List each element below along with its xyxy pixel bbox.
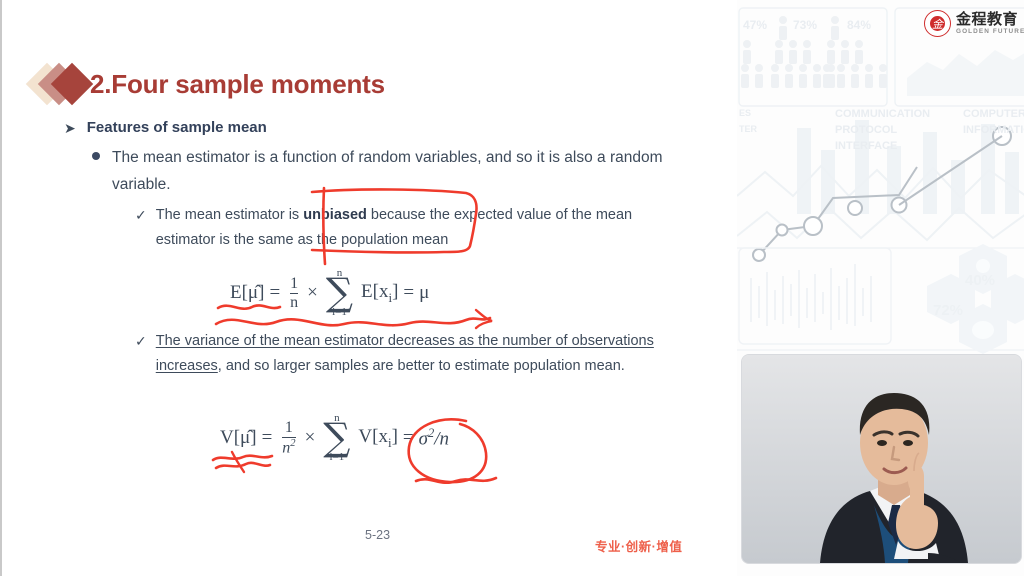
check-bullet-icon: ✓ — [135, 203, 147, 228]
dot-bullet-icon — [92, 152, 100, 160]
decor-label-es: ES — [739, 108, 751, 118]
formula-var-lhs: V[μ̂] — [220, 427, 257, 449]
formula-var-term: V[xi] — [358, 426, 397, 451]
instructor-figure — [742, 355, 1021, 563]
formula-mean-rhs: μ — [419, 282, 429, 304]
formula-mean-lhs: E[μ̂] — [230, 282, 264, 304]
decor-hex-72: 72% — [933, 302, 963, 319]
decor-stat-73: 73% — [793, 18, 817, 32]
variance-text-rest: , and so larger samples are better to es… — [218, 358, 625, 374]
decorative-side-panel: 47% 73% 84% ES TER COMMUNICATION PROTOCO… — [737, 0, 1024, 576]
formula-var-term-open: V[x — [358, 426, 388, 447]
brand-seal-icon: 金 — [924, 10, 951, 37]
formula-var-term-close: ] — [392, 426, 398, 447]
formula-var-summation: n ∑ i=1 — [323, 413, 350, 463]
formula-mean-term: E[xi] — [361, 281, 398, 306]
decor-stat-84: 84% — [847, 18, 871, 32]
brand-names: 金程教育 GOLDEN FUTURE — [956, 12, 1024, 35]
formula-expected-value-of-mean-estimator: E[μ̂] = 1 n × n ∑ i=1 E[xi] = μ — [230, 268, 429, 318]
page-number: 5-23 — [365, 528, 390, 542]
decor-label-ter: TER — [739, 124, 757, 134]
emphasis-unbiased: unbiased — [303, 207, 367, 223]
bullet-level2-label: The mean estimator is a function of rand… — [112, 144, 692, 198]
formula-mean-times: × — [307, 282, 318, 304]
text-fragment-pre: The mean estimator is — [156, 207, 303, 223]
decor-label-protocol: PROTOCOL — [835, 124, 897, 136]
page-title: 2.Four sample moments — [90, 69, 385, 100]
slide-canvas: 2.Four sample moments ➤ Features of samp… — [0, 0, 1024, 576]
formula-var-den-exp: 2 — [290, 438, 295, 449]
brand-name-en: GOLDEN FUTURE — [956, 28, 1024, 35]
formula-mean-term-close: ] — [392, 281, 398, 302]
bullet-level3-unbiased-text: The mean estimator is unbiased because t… — [156, 203, 695, 253]
summation-sigma-icon: ∑ — [326, 277, 353, 308]
brand-name-cn: 金程教育 — [956, 12, 1024, 28]
arrow-bullet-icon: ➤ — [64, 118, 76, 138]
decor-label-information: INFORMATION — [963, 124, 1024, 136]
formula-var-fraction: 1 n2 — [282, 420, 295, 456]
bullet-level2: The mean estimator is a function of rand… — [92, 144, 692, 198]
formula-mean-numerator: 1 — [290, 276, 298, 293]
brand-seal-glyph: 金 — [930, 16, 945, 31]
summation-sigma-icon: ∑ — [323, 422, 350, 453]
decor-label-communication: COMMUNICATION — [835, 108, 930, 120]
formula-mean-denominator: n — [290, 293, 298, 311]
formula-mean-equals: = — [269, 282, 280, 304]
bullet-level3-unbiased: ✓ The mean estimator is unbiased because… — [135, 203, 695, 253]
formula-var-rhs: σ2/n — [419, 426, 449, 450]
brand-logo: 金 金程教育 GOLDEN FUTURE — [924, 10, 1024, 37]
decor-stat-47: 47% — [743, 18, 767, 32]
formula-var-times: × — [305, 427, 316, 449]
formula-var-sigma: σ — [419, 428, 428, 449]
formula-var-denominator: n2 — [282, 437, 295, 456]
brand-slogan: 专业·创新·增值 — [595, 536, 682, 555]
formula-mean-equals2: = — [403, 282, 414, 304]
formula-var-numerator: 1 — [285, 420, 293, 437]
formula-var-over-n: /n — [434, 428, 449, 449]
bullet-level1-label: Features of sample mean — [87, 118, 267, 138]
formula-var-equals2: = — [403, 427, 414, 449]
slide-title-row: 2.Four sample moments — [32, 60, 385, 108]
bullet-level1: ➤ Features of sample mean — [64, 118, 267, 138]
decor-label-computer: COMPUTER — [963, 108, 1024, 120]
formula-mean-term-open: E[x — [361, 281, 388, 302]
bullet-level3-variance-text: The variance of the mean estimator decre… — [156, 329, 695, 379]
bullet-level3-variance: ✓ The variance of the mean estimator dec… — [135, 329, 695, 379]
slide-content-area: 2.Four sample moments ➤ Features of samp… — [2, 0, 737, 576]
formula-mean-sum-lower: i=1 — [332, 307, 347, 318]
decor-hex-40: 40% — [965, 272, 995, 289]
instructor-webcam-feed[interactable] — [742, 355, 1021, 563]
formula-mean-summation: n ∑ i=1 — [326, 268, 353, 318]
decor-label-interface: INTERFACE — [835, 140, 897, 152]
diamond-decoration-icon — [32, 63, 90, 105]
formula-var-sum-lower: i=1 — [329, 452, 344, 463]
check-bullet-icon: ✓ — [135, 329, 147, 354]
formula-var-equals: = — [262, 427, 273, 449]
formula-variance-of-mean-estimator: V[μ̂] = 1 n2 × n ∑ i=1 V[xi] = σ2/n — [220, 413, 449, 463]
formula-mean-fraction: 1 n — [290, 276, 298, 311]
